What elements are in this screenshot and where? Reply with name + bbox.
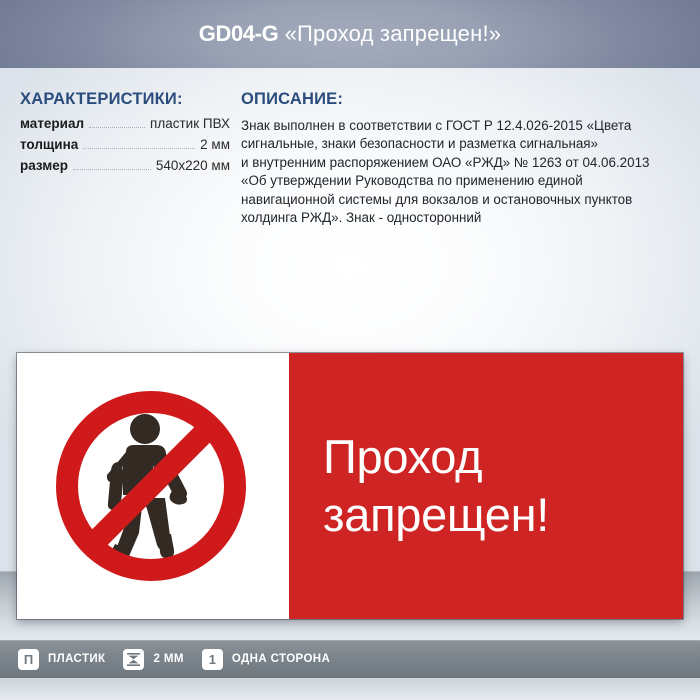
feature-thickness-label: 2 ММ [153,653,183,665]
thickness-icon [123,649,144,670]
page-header: GD04-G «Проход запрещен!» [0,0,700,68]
feature-thickness: 2 ММ [123,649,183,670]
spec-leader-dots [83,148,195,149]
footer-baseboard [0,678,700,700]
spec-value: пластик ПВХ [150,116,230,131]
spec-key: толщина [20,137,78,152]
page-title: GD04-G «Проход запрещен!» [0,0,700,68]
spec-row-size: размер 540х220 мм [20,158,230,173]
feature-bar: П ПЛАСТИК 2 ММ 1 ОДНА СТОРОНА [0,640,700,678]
feature-material-label: ПЛАСТИК [48,653,105,665]
product-name: «Проход запрещен!» [285,21,502,46]
spec-row-material: материал пластик ПВХ [20,116,230,131]
feature-material: П ПЛАСТИК [18,649,105,670]
spec-leader-dots [89,127,145,128]
sign-product-image: Проход запрещен! [17,353,683,619]
one-side-icon: 1 [202,649,223,670]
feature-sides: 1 ОДНА СТОРОНА [202,649,330,670]
product-card: GD04-G «Проход запрещен!» ХАРАКТЕРИСТИКИ… [0,0,700,700]
description-block: ОПИСАНИЕ: Знак выполнен в соответствии с… [241,90,689,227]
specifications-block: ХАРАКТЕРИСТИКИ: материал пластик ПВХ тол… [20,90,230,179]
spec-value: 540х220 мм [156,158,230,173]
feature-sides-label: ОДНА СТОРОНА [232,653,330,665]
plastic-icon-glyph: П [24,653,33,666]
spec-row-thickness: толщина 2 мм [20,137,230,152]
one-side-icon-glyph: 1 [209,653,216,666]
description-title: ОПИСАНИЕ: [241,90,689,109]
sign-text-panel: Проход запрещен! [289,353,683,619]
spec-key: размер [20,158,68,173]
spec-value: 2 мм [200,137,230,152]
product-code: GD04-G [199,21,279,46]
spec-leader-dots [73,169,151,170]
no-pedestrian-prohibition-icon [51,386,251,586]
sign-pictogram-panel [17,353,289,619]
description-body: Знак выполнен в соответствии с ГОСТ Р 12… [241,117,689,227]
product-preview-scene: Проход запрещен! [0,318,700,640]
specifications-title: ХАРАКТЕРИСТИКИ: [20,90,230,109]
sign-text: Проход запрещен! [323,428,549,544]
plastic-icon: П [18,649,39,670]
spec-key: материал [20,116,84,131]
info-section: ХАРАКТЕРИСТИКИ: материал пластик ПВХ тол… [0,68,700,318]
